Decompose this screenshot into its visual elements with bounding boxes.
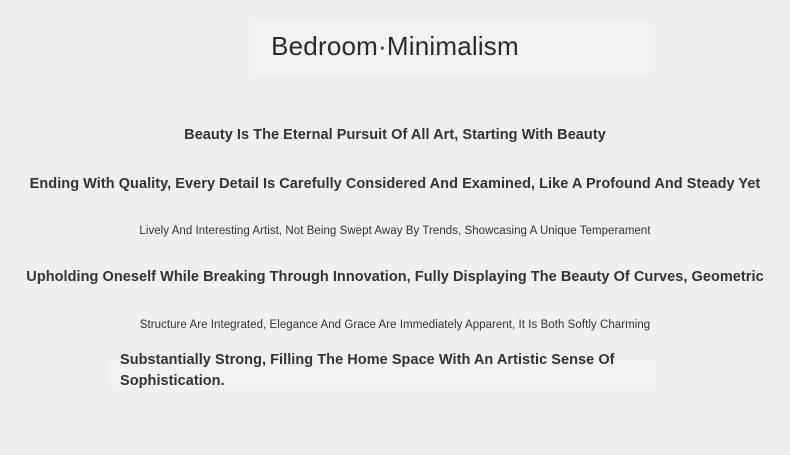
description-line-5: Structure Are Integrated, Elegance And G… bbox=[0, 315, 790, 335]
description-line-1: Beauty Is The Eternal Pursuit Of All Art… bbox=[0, 125, 790, 145]
description-line-3: Lively And Interesting Artist, Not Being… bbox=[0, 221, 790, 241]
description-line-6: Substantially Strong, Filling The Home S… bbox=[120, 350, 680, 392]
product-description-page: Bedroom·Minimalism Beauty Is The Eternal… bbox=[0, 0, 790, 455]
description-line-2: Ending With Quality, Every Detail Is Car… bbox=[0, 174, 790, 194]
description-line-4: Upholding Oneself While Breaking Through… bbox=[0, 267, 790, 287]
page-title: Bedroom·Minimalism bbox=[0, 28, 790, 64]
